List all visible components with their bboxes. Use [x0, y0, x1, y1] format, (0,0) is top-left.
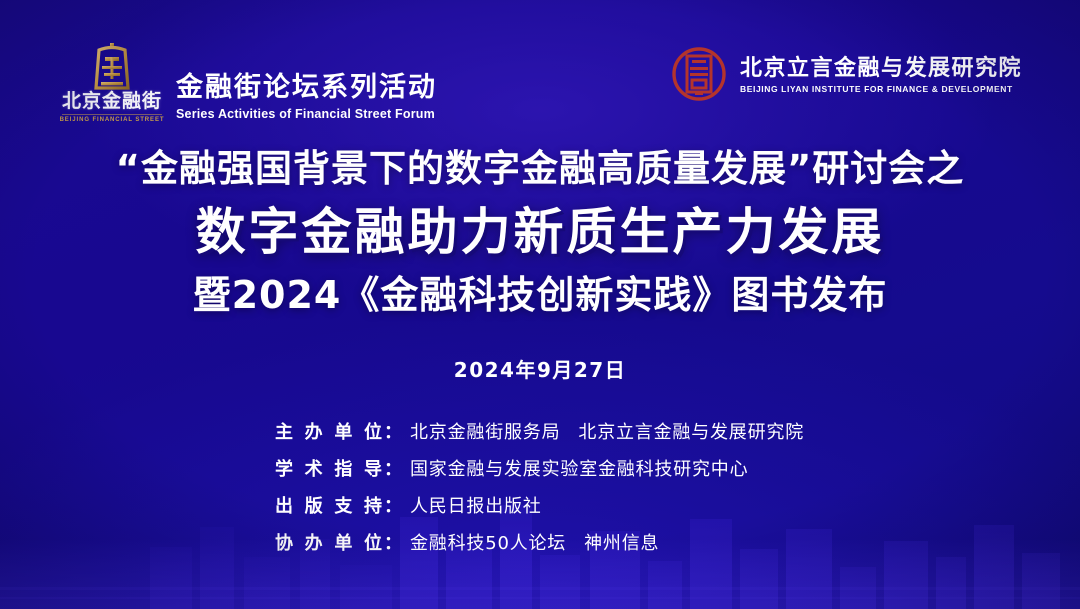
credit-value: 国家金融与发展实验室金融科技研究中心: [410, 455, 748, 481]
beijing-financial-street-logo: 北京金融街 BEIJING FINANCIAL STREET: [62, 42, 162, 123]
forum-title-group: 金融街论坛系列活动 Series Activities of Financial…: [176, 73, 437, 123]
credit-row: 协办单位 ： 金融科技50人论坛神州信息: [275, 529, 805, 555]
credit-row: 主办单位 ： 北京金融街服务局北京立言金融与发展研究院: [275, 418, 805, 444]
event-date: 2024年9月27日: [0, 354, 1080, 383]
forum-title-cn: 金融街论坛系列活动: [176, 73, 437, 103]
right-logo-group: 北京立言金融与发展研究院 BEIJING LIYAN INSTITUTE FOR…: [671, 46, 1022, 102]
credit-row: 出版支持 ： 人民日报出版社: [275, 492, 805, 518]
title-block: “金融强国背景下的数字金融高质量发展”研讨会之 数字金融助力新质生产力发展 暨2…: [0, 146, 1080, 383]
credit-value-primary: 金融科技50人论坛: [410, 533, 566, 554]
liyan-brand-en: BEIJING LIYAN INSTITUTE FOR FINANCE & DE…: [740, 84, 1022, 94]
event-subtitle-line: “金融强国背景下的数字金融高质量发展”研讨会之: [0, 146, 1080, 192]
credit-value-primary: 北京金融街服务局: [410, 422, 560, 443]
logo-bar: 北京金融街 BEIJING FINANCIAL STREET 金融街论坛系列活动…: [0, 42, 1080, 124]
credit-label: 协办单位: [275, 529, 383, 555]
liyan-institute-seal-icon: [671, 46, 727, 102]
credit-label: 主办单位: [275, 418, 383, 444]
credit-value-secondary: 北京立言金融与发展研究院: [578, 422, 804, 443]
credit-label: 出版支持: [275, 492, 383, 518]
credit-value-primary: 人民日报出版社: [410, 496, 542, 517]
credit-value: 北京金融街服务局北京立言金融与发展研究院: [410, 418, 804, 444]
left-logo-group: 北京金融街 BEIJING FINANCIAL STREET 金融街论坛系列活动…: [62, 42, 437, 123]
beijing-financial-street-emblem-icon: [90, 42, 134, 90]
credit-colon: ：: [383, 492, 410, 518]
credit-value-secondary: 神州信息: [584, 533, 659, 554]
bfs-brand-cn: 北京金融街: [62, 92, 162, 112]
credit-label: 学术指导: [275, 455, 383, 481]
credit-colon: ：: [383, 455, 410, 481]
credit-row: 学术指导 ： 国家金融与发展实验室金融科技研究中心: [275, 455, 805, 481]
bfs-divider: [62, 114, 162, 115]
credit-value: 人民日报出版社: [410, 492, 542, 518]
credit-value: 金融科技50人论坛神州信息: [410, 529, 659, 555]
credit-colon: ：: [383, 529, 410, 555]
event-book-launch-line: 暨2024《金融科技创新实践》图书发布: [0, 272, 1080, 320]
event-main-title: 数字金融助力新质生产力发展: [0, 202, 1080, 262]
liyan-text-group: 北京立言金融与发展研究院 BEIJING LIYAN INSTITUTE FOR…: [740, 54, 1022, 94]
bfs-brand-en: BEIJING FINANCIAL STREET: [60, 117, 165, 123]
credit-colon: ：: [383, 418, 410, 444]
event-poster: 北京金融街 BEIJING FINANCIAL STREET 金融街论坛系列活动…: [0, 0, 1080, 609]
liyan-brand-cn: 北京立言金融与发展研究院: [740, 56, 1022, 81]
credits-block: 主办单位 ： 北京金融街服务局北京立言金融与发展研究院 学术指导 ： 国家金融与…: [0, 418, 1080, 566]
credit-value-primary: 国家金融与发展实验室金融科技研究中心: [410, 459, 748, 480]
forum-title-en: Series Activities of Financial Street Fo…: [176, 107, 437, 121]
